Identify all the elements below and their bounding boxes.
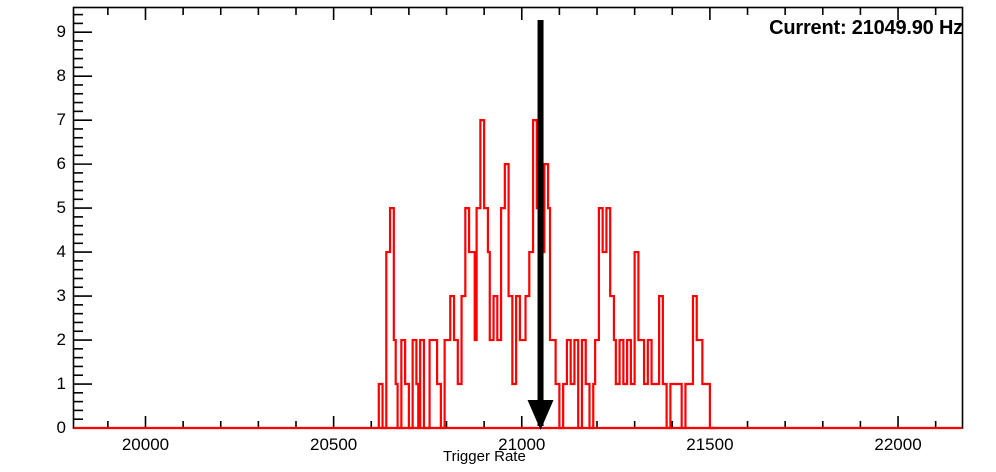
y-axis-tick-label: 6 [57, 154, 66, 174]
y-axis-tick-label: 7 [57, 110, 66, 130]
current-rate-readout: Current: 21049.90 Hz [769, 17, 963, 40]
y-axis-tick-label: 9 [57, 22, 66, 42]
histogram-outline [379, 120, 718, 428]
y-axis-tick-label: 5 [57, 198, 66, 218]
y-axis-tick-label: 1 [57, 374, 66, 394]
x-axis-ticks [108, 8, 936, 428]
x-axis-tick-label: 22000 [874, 435, 921, 455]
current-rate-marker-arrowhead [528, 400, 554, 430]
plot-frame [74, 8, 963, 429]
x-axis-tick-label: 20000 [122, 435, 169, 455]
y-axis-tick-label: 8 [57, 66, 66, 86]
x-axis-tick-label: 21500 [686, 435, 733, 455]
x-axis-title: Trigger Rate [443, 448, 526, 465]
y-axis-tick-label: 4 [57, 242, 66, 262]
y-axis-tick-label: 2 [57, 330, 66, 350]
root-canvas: 2000020500210002150022000 0123456789 Tri… [0, 0, 996, 472]
y-axis-tick-label: 3 [57, 286, 66, 306]
y-axis-tick-label: 0 [57, 418, 66, 438]
y-axis-ticks [74, 15, 92, 428]
histogram-plot [0, 0, 996, 472]
x-axis-tick-label: 20500 [310, 435, 357, 455]
